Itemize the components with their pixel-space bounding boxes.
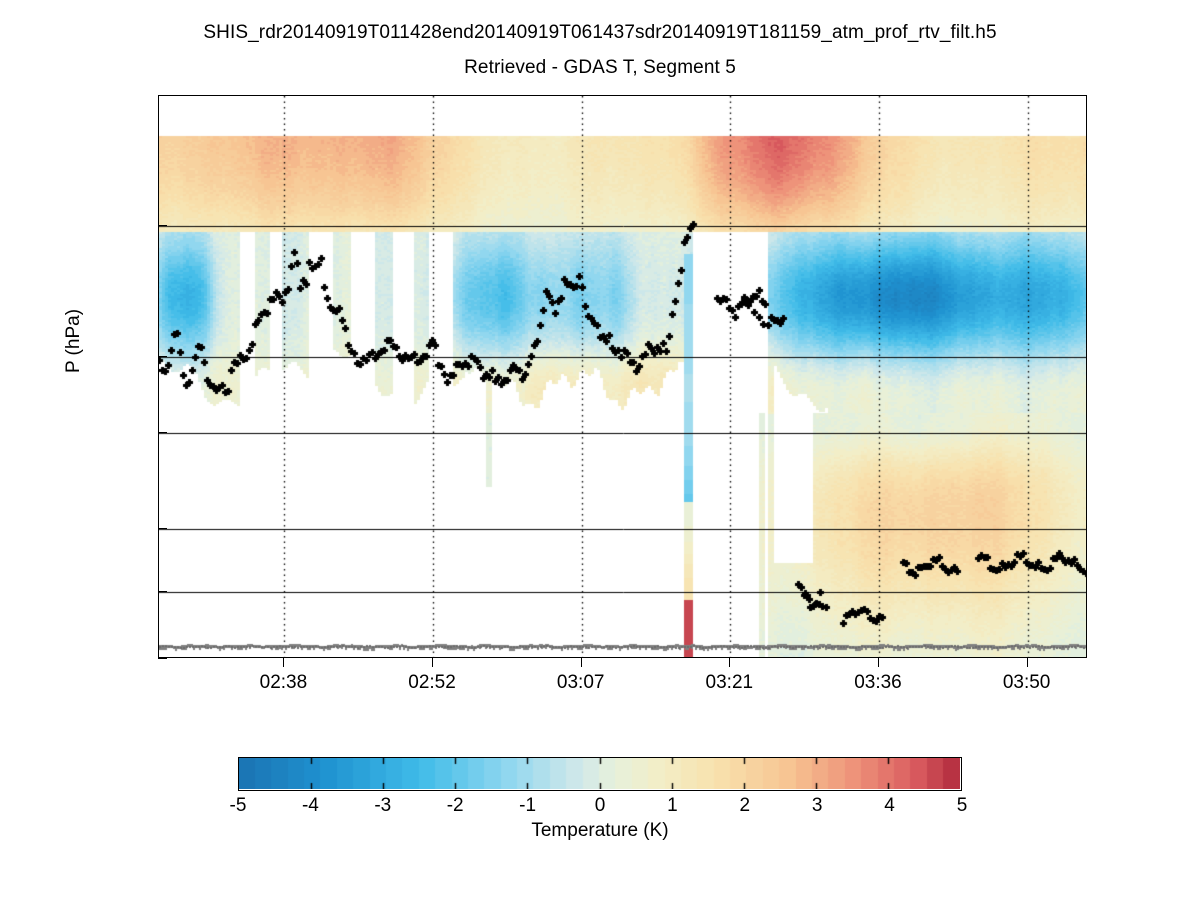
- y-tick-mark-500: [158, 528, 167, 529]
- colorbar-tick-label-5: 0: [560, 795, 640, 817]
- colorbar-tick-label-0: -5: [198, 795, 278, 817]
- page-subtitle: Retrieved - GDAS T, Segment 5: [0, 57, 1200, 79]
- x-tick-label-0350: 03:50: [967, 672, 1087, 694]
- heatmap-plot-area: [158, 95, 1087, 658]
- colorbar-tick-label-7: 2: [705, 795, 785, 817]
- y-tick-mark-300: [158, 432, 167, 433]
- colorbar-tick-label-8: 3: [777, 795, 857, 817]
- x-tick-label-0307: 03:07: [521, 672, 641, 694]
- colorbar-tick-label-3: -2: [415, 795, 495, 817]
- colorbar-gradient: [239, 758, 960, 789]
- x-tick-mark-0321: [729, 658, 730, 667]
- x-tick-label-0336: 03:36: [818, 672, 938, 694]
- x-tick-label-0238: 02:38: [223, 672, 343, 694]
- y-tick-mark-1000: [158, 658, 167, 659]
- y-tick-mark-700: [158, 591, 167, 592]
- y-tick-mark-50: [158, 95, 167, 96]
- colorbar-axis-label: Temperature (K): [238, 820, 962, 842]
- colorbar-tick-label-2: -3: [343, 795, 423, 817]
- x-tick-mark-0350: [1027, 658, 1028, 667]
- page-title: SHIS_rdr20140919T011428end20140919T06143…: [0, 22, 1200, 44]
- y-axis-label: P (hPa): [63, 261, 85, 421]
- y-tick-mark-100: [158, 225, 167, 226]
- x-tick-mark-0238: [283, 658, 284, 667]
- scatter-overlay-canvas: [159, 96, 1087, 658]
- x-tick-mark-0336: [878, 658, 879, 667]
- colorbar: [238, 757, 962, 791]
- colorbar-tick-label-4: -1: [488, 795, 568, 817]
- x-tick-label-0321: 03:21: [669, 672, 789, 694]
- y-tick-mark-200: [158, 356, 167, 357]
- colorbar-tick-label-9: 4: [850, 795, 930, 817]
- x-tick-mark-0252: [432, 658, 433, 667]
- colorbar-tick-label-10: 5: [922, 795, 1002, 817]
- colorbar-tick-label-6: 1: [632, 795, 712, 817]
- x-tick-label-0252: 02:52: [372, 672, 492, 694]
- colorbar-tick-label-1: -4: [270, 795, 350, 817]
- x-tick-mark-0307: [581, 658, 582, 667]
